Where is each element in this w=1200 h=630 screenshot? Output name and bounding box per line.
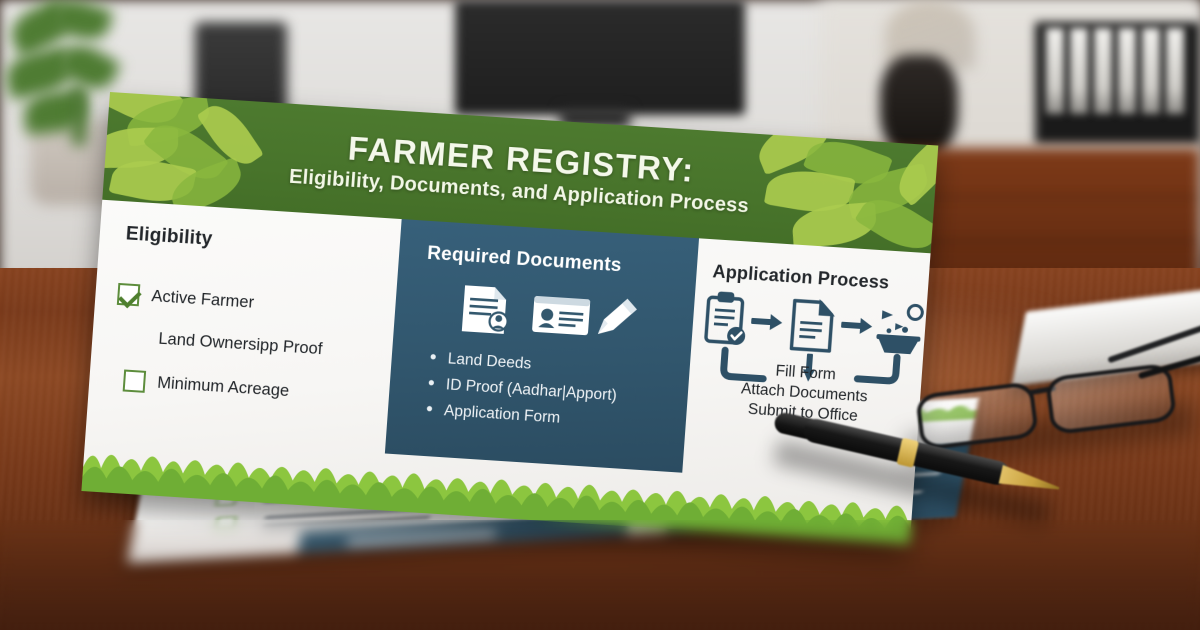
eligibility-heading: Eligibility bbox=[125, 223, 213, 251]
binder bbox=[1142, 28, 1160, 114]
binder bbox=[1070, 28, 1088, 114]
binder bbox=[1166, 28, 1184, 114]
eligibility-item-label: Minimum Acreage bbox=[157, 373, 290, 400]
eligibility-item-label: Land Ownersipp Proof bbox=[158, 329, 323, 359]
binder bbox=[1046, 28, 1064, 114]
documents-bullet: ID Proof (Aadhar|Apport) bbox=[427, 375, 617, 405]
documents-bullet: Application Form bbox=[425, 401, 615, 431]
documents-icon-row bbox=[457, 281, 641, 348]
process-heading: Application Process bbox=[712, 261, 890, 293]
arrow-right-icon bbox=[841, 317, 873, 335]
document-icon bbox=[791, 301, 832, 351]
column-eligibility: Eligibility Active Farmer Land Ownersipp… bbox=[85, 200, 401, 454]
documents-bullet-list: Land Deeds ID Proof (Aadhar|Apport) Appl… bbox=[425, 349, 619, 439]
inbox-basket-icon bbox=[875, 303, 922, 355]
documents-heading: Required Documents bbox=[426, 243, 622, 278]
binder bbox=[1118, 28, 1136, 114]
process-flow-diagram bbox=[699, 289, 923, 367]
pencil-icon bbox=[598, 297, 638, 336]
column-required-documents: Required Documents bbox=[385, 219, 699, 473]
checkbox-unchecked-icon[interactable] bbox=[123, 369, 147, 392]
documents-bullet: Land Deeds bbox=[429, 349, 619, 379]
monitor bbox=[455, 0, 745, 115]
arrow-right-icon bbox=[751, 313, 783, 331]
eligibility-item-label: Active Farmer bbox=[151, 287, 255, 313]
id-card-icon bbox=[532, 296, 590, 336]
eligibility-item: Minimum Acreage bbox=[123, 369, 290, 402]
eligibility-item: Active Farmer bbox=[117, 283, 255, 314]
plant-stem bbox=[72, 86, 86, 146]
clipboard-check-icon bbox=[706, 292, 749, 345]
office-desk-scene: Eligibility bbox=[0, 0, 1200, 630]
farmer-registry-card: FARMER REGISTRY: Eligibility, Documents,… bbox=[81, 92, 938, 545]
document-person-icon bbox=[462, 285, 510, 334]
checkbox-placeholder-icon bbox=[124, 325, 148, 348]
binder bbox=[1094, 28, 1112, 114]
desk-foreground-blur bbox=[0, 520, 1200, 630]
pen-tip bbox=[999, 465, 1062, 497]
eligibility-item: Land Ownersipp Proof bbox=[124, 325, 323, 360]
checkbox-checked-icon[interactable] bbox=[117, 283, 141, 306]
